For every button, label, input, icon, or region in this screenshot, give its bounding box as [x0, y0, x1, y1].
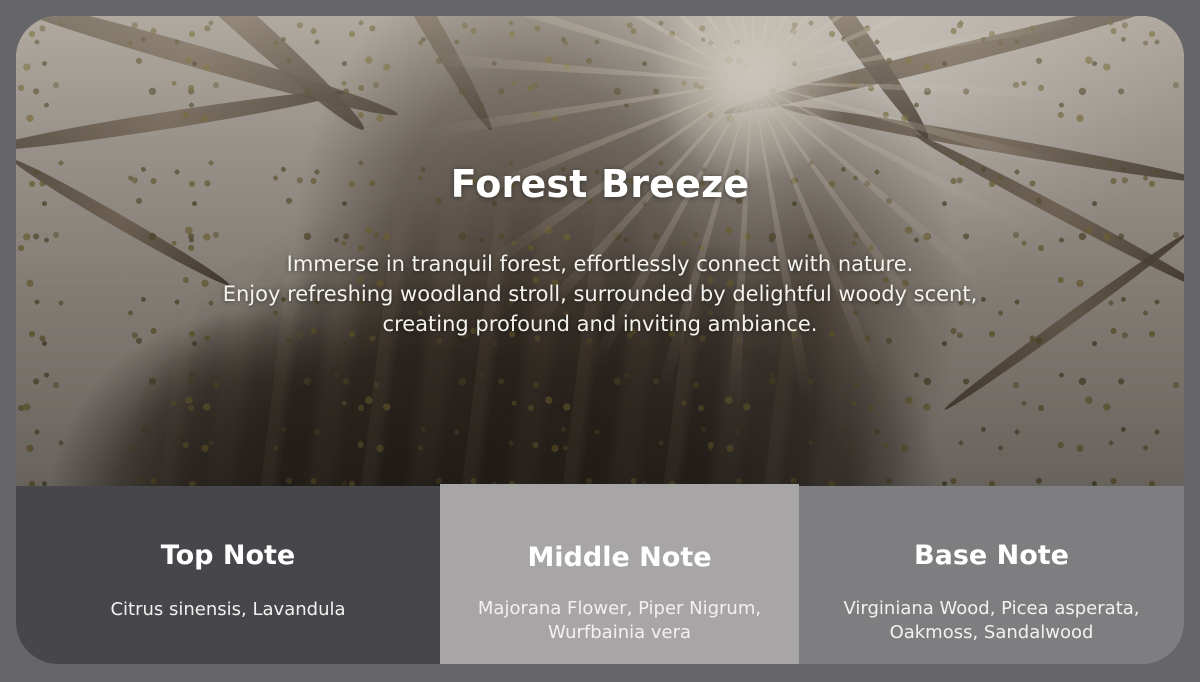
note-panel-top: Top Note Citrus sinensis, Lavandula — [16, 486, 440, 664]
hero-description-line: Immerse in tranquil forest, effortlessly… — [223, 250, 978, 280]
note-ingredients-base: Virginiana Wood, Picea asperata, Oakmoss… — [822, 597, 1162, 646]
note-heading-top: Top Note — [161, 540, 295, 571]
fragrance-notes-section: Top Note Citrus sinensis, Lavandula Midd… — [16, 486, 1184, 664]
note-heading-base: Base Note — [914, 540, 1069, 571]
hero-description-line: Enjoy refreshing woodland stroll, surrou… — [223, 280, 978, 310]
note-panel-base: Base Note Virginiana Wood, Picea asperat… — [799, 486, 1184, 664]
hero-image: Forest Breeze Immerse in tranquil forest… — [16, 16, 1184, 486]
hero-text-block: Forest Breeze Immerse in tranquil forest… — [16, 16, 1184, 486]
hero-description: Immerse in tranquil forest, effortlessly… — [223, 250, 978, 339]
fragrance-card: Forest Breeze Immerse in tranquil forest… — [16, 16, 1184, 664]
page-title: Forest Breeze — [451, 162, 750, 206]
note-heading-middle: Middle Note — [527, 542, 711, 573]
note-ingredients-middle: Majorana Flower, Piper Nigrum, Wurfbaini… — [455, 597, 785, 646]
note-panel-middle: Middle Note Majorana Flower, Piper Nigru… — [440, 484, 799, 664]
hero-description-line: creating profound and inviting ambiance. — [223, 310, 978, 340]
note-ingredients-top: Citrus sinensis, Lavandula — [110, 598, 345, 622]
